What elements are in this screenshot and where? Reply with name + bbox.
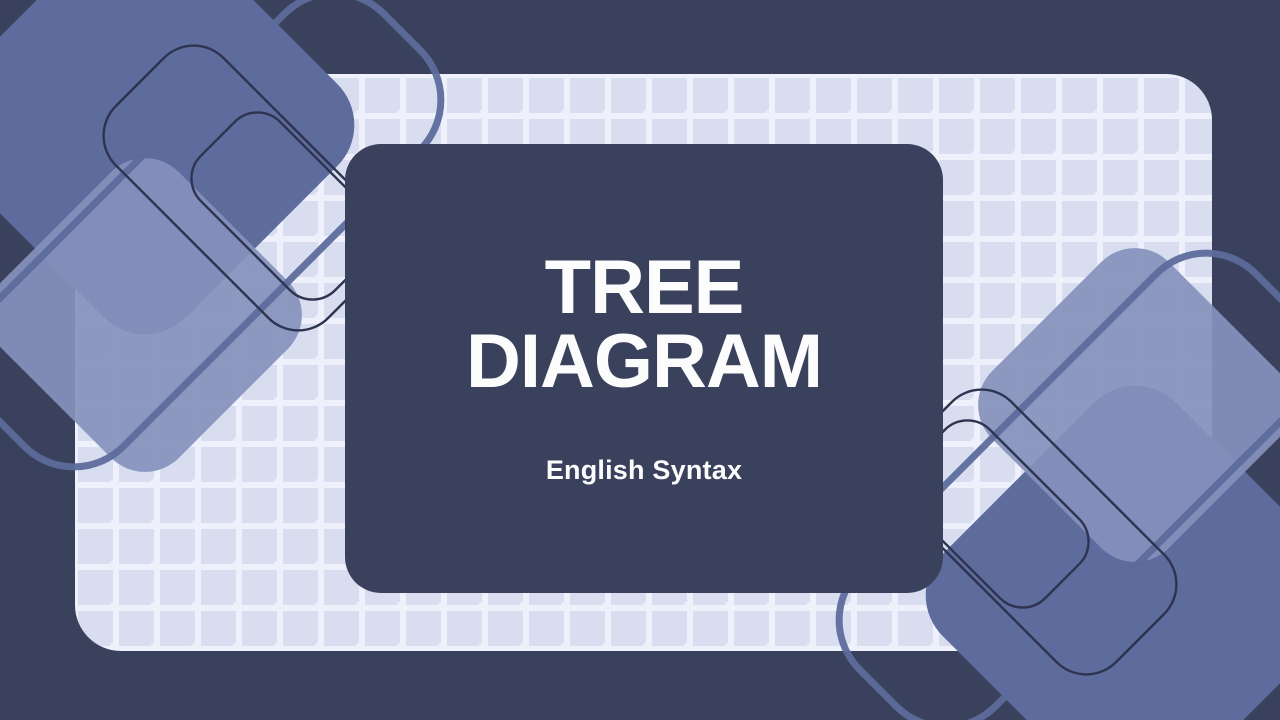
slide-subtitle: English Syntax [546,399,742,486]
slide-title: TREE DIAGRAM [409,251,879,400]
presentation-slide: TREE DIAGRAM English Syntax [0,0,1280,720]
title-panel: TREE DIAGRAM English Syntax [345,144,943,593]
